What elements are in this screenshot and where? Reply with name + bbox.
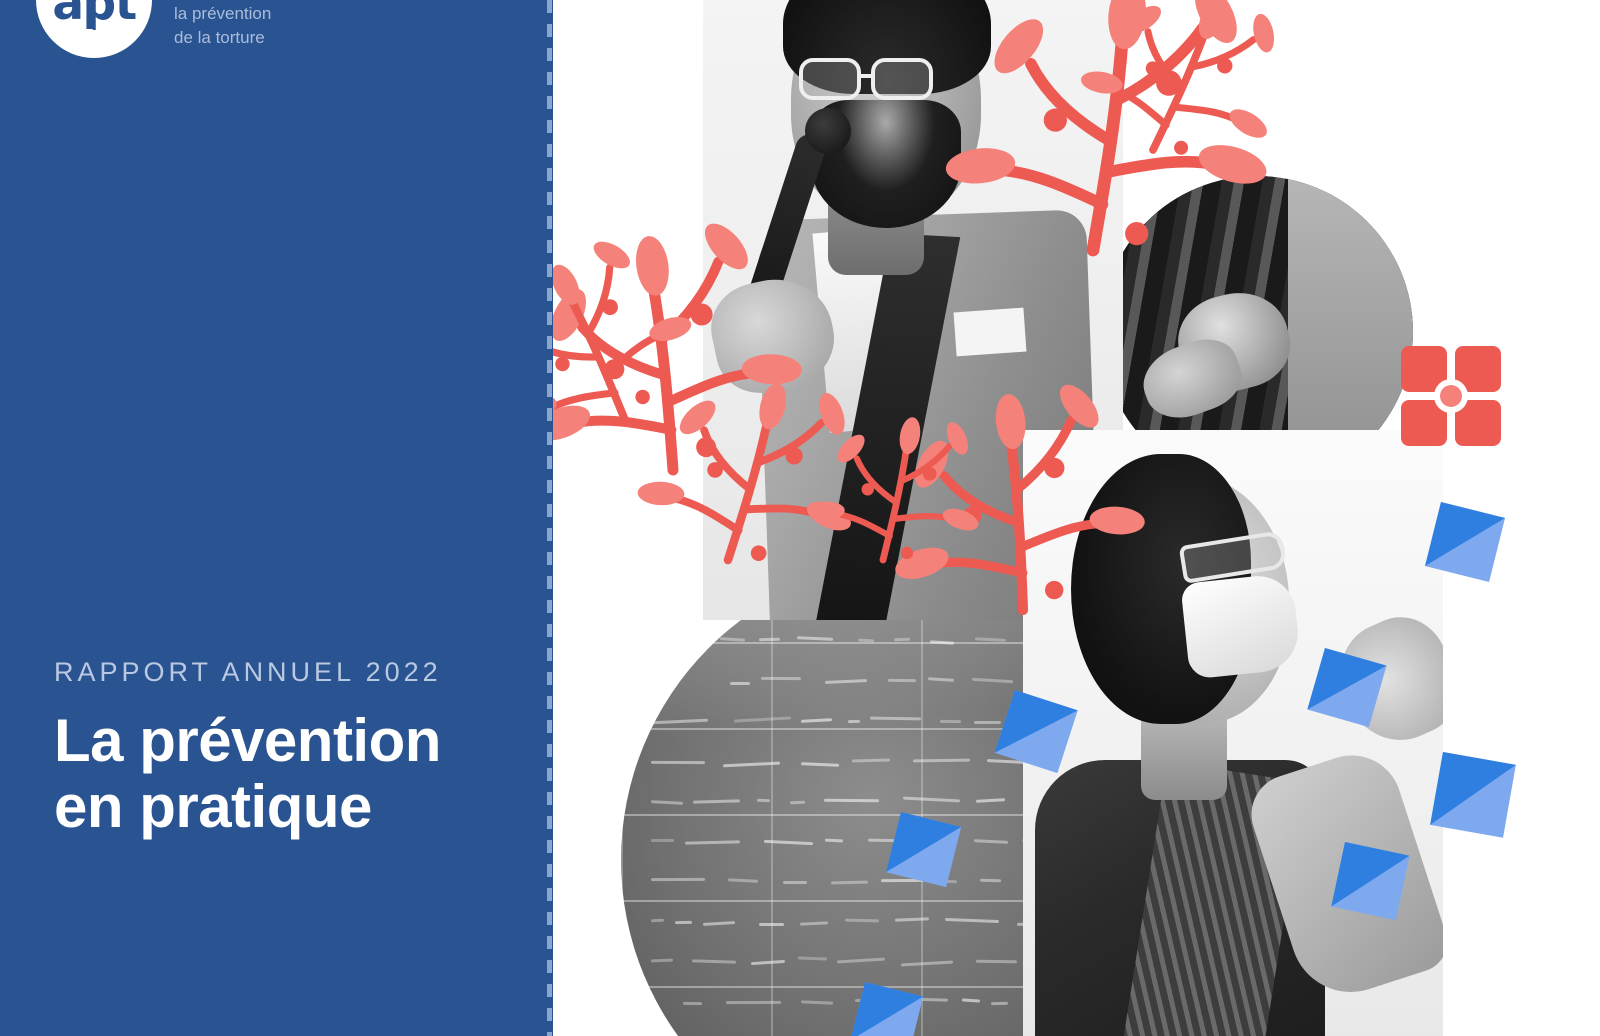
blue-square-3 [1430,752,1516,838]
report-kicker: RAPPORT ANNUEL 2022 [54,656,524,688]
page-title: La prévention en pratique [54,708,524,840]
speaker-glasses-left [799,58,861,100]
apt-logo-circle-icon: apt [36,0,152,58]
speaker-glasses-bridge [861,74,873,78]
annual-report-cover: apt la prévention de la torture RAPPORT … [0,0,1600,1036]
title-panel [0,0,553,1036]
speaker-glasses-right [871,58,933,100]
panel-dashed-divider [547,0,552,1036]
microphone-head [805,108,851,154]
photo-collage [553,0,1600,1036]
apt-logo[interactable]: apt la prévention de la torture [36,0,271,58]
photo-woman-with-mask [1023,430,1443,1036]
cover-title-block: RAPPORT ANNUEL 2022 La prévention en pra… [54,656,524,840]
speaker-name-badge [954,308,1027,357]
apt-scales-logo-icon [93,0,96,30]
apt-logo-tagline: la prévention de la torture [174,2,271,58]
